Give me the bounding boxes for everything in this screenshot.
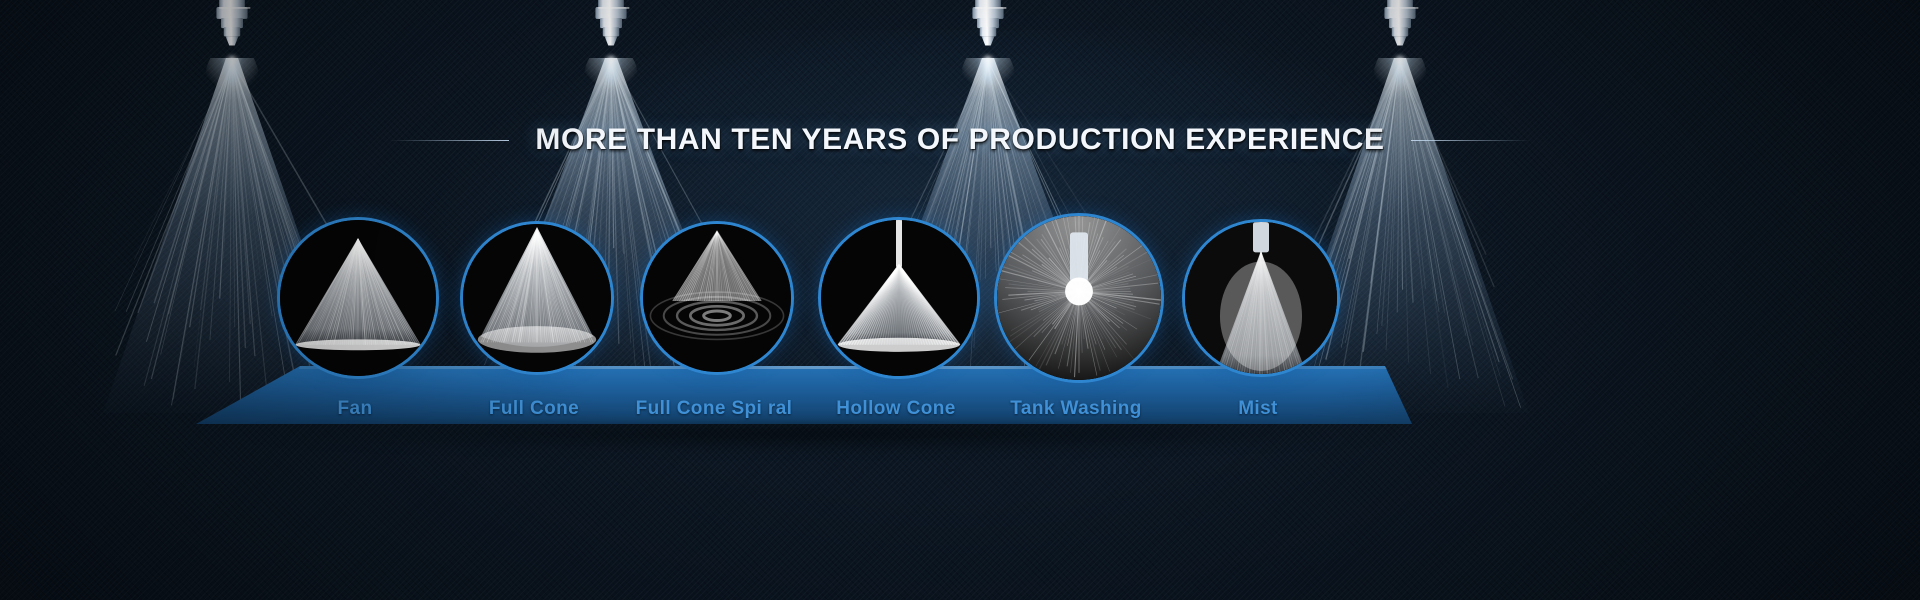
pattern-thumb-tank-washing[interactable] [994, 213, 1164, 383]
pattern-thumb-hollow-cone[interactable] [818, 217, 980, 379]
pattern-gallery [0, 0, 1920, 600]
spray-pattern-art-fan [280, 220, 436, 376]
pattern-thumb-full-cone-spiral[interactable] [640, 221, 794, 375]
spray-pattern-art-tank-washing [997, 216, 1161, 380]
pattern-thumb-full-cone[interactable] [460, 221, 614, 375]
pattern-thumb-mist[interactable] [1182, 219, 1340, 377]
pattern-thumb-fan[interactable] [277, 217, 439, 379]
spray-pattern-art-mist [1185, 222, 1337, 374]
spray-pattern-art-hollow-cone [821, 220, 977, 376]
pattern-label-mist: Mist [1138, 398, 1378, 420]
banner-stage: MORE THAN TEN YEARS OF PRODUCTION EXPERI… [0, 0, 1920, 600]
spray-pattern-art-full-cone [463, 224, 611, 372]
spray-pattern-art-spiral [643, 224, 791, 372]
